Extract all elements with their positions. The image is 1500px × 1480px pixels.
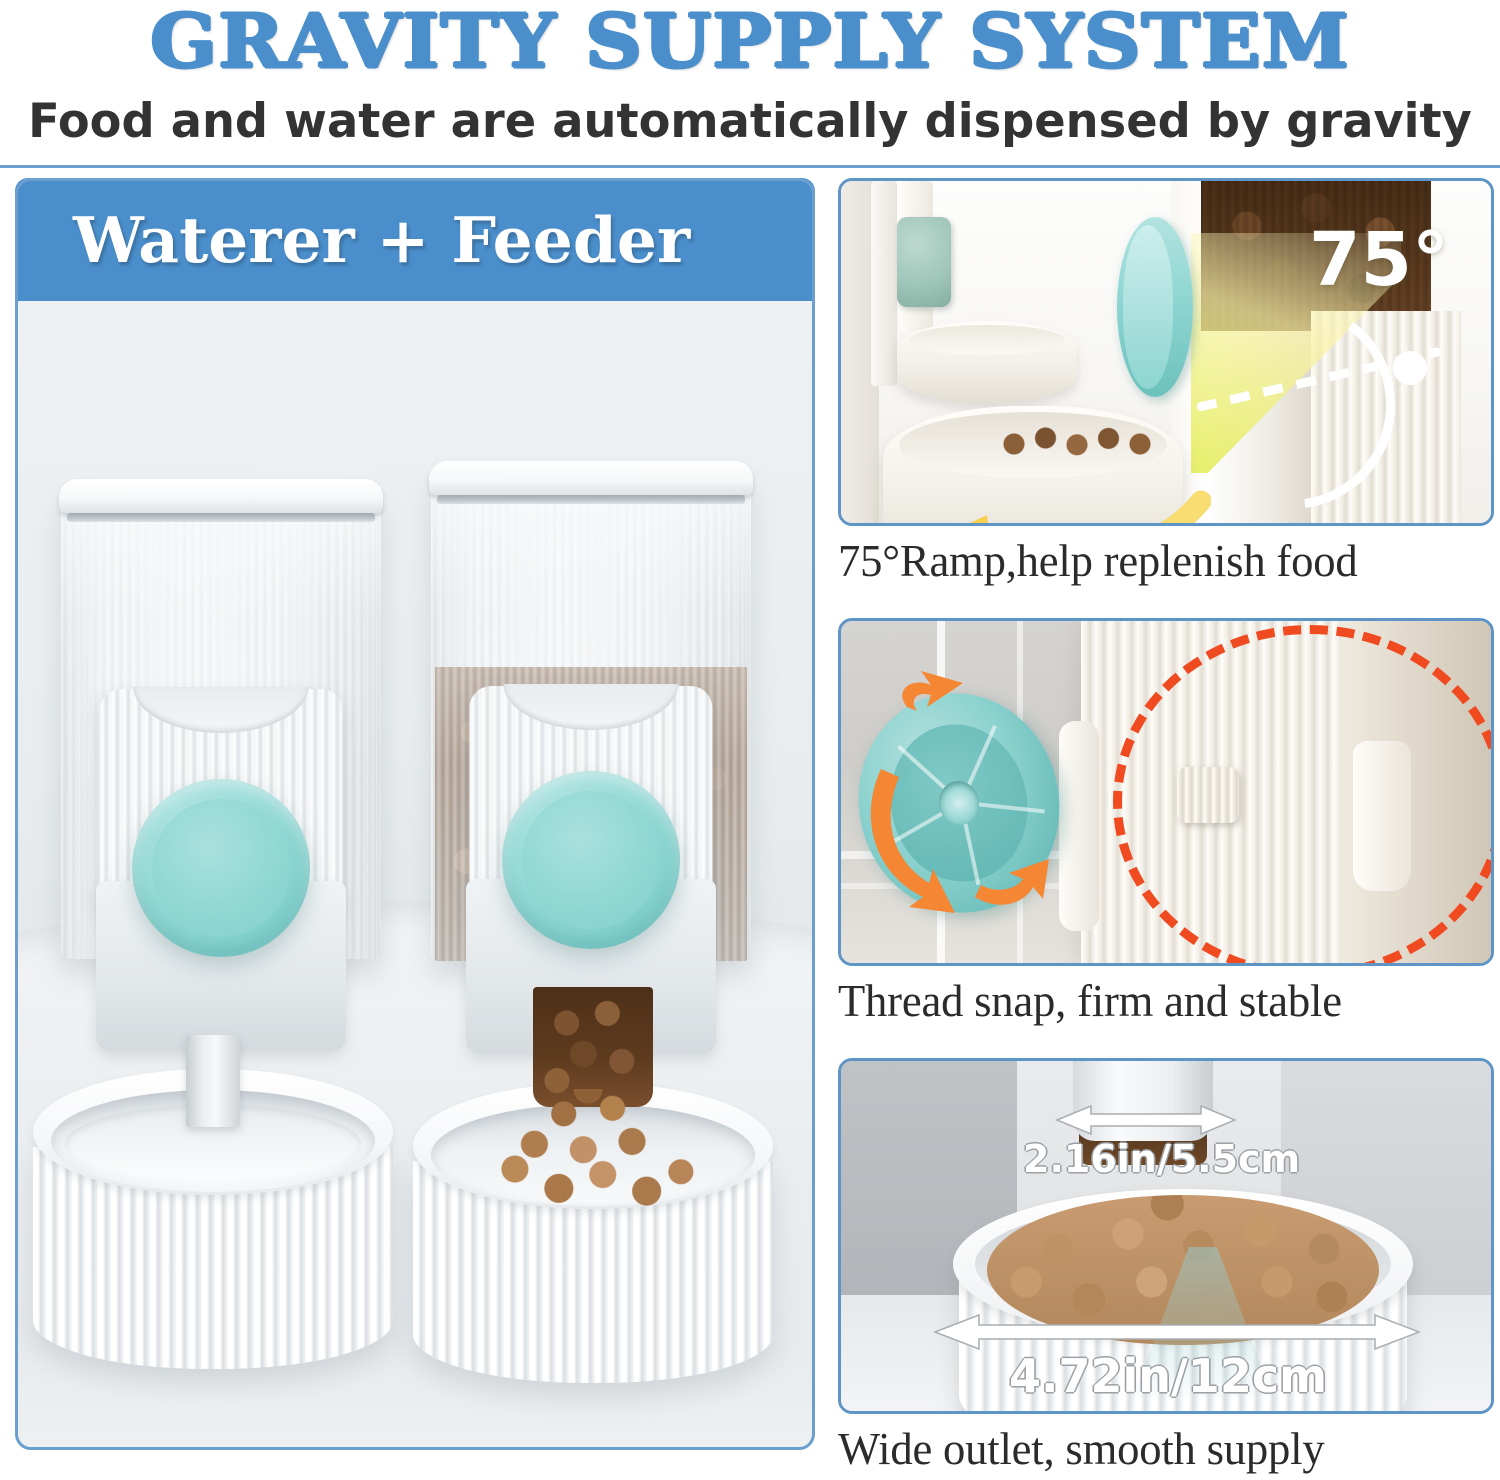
outlet-width-arrow (1051, 1103, 1241, 1137)
feature-column: 75° 75°Ramp,help replenish food (838, 178, 1500, 1458)
feature-thread-caption: Thread snap, firm and stable (838, 970, 1478, 1032)
food-bowl (413, 1083, 773, 1383)
ramp-teal-cap (1117, 217, 1193, 397)
ramp-angle-label: 75° (1309, 223, 1449, 297)
waterer-lid (59, 479, 383, 513)
ramp-angle-dot (1393, 351, 1427, 385)
feeder-unit (431, 471, 751, 961)
page-subtitle: Food and water are automatically dispens… (11, 92, 1489, 152)
ramp-upper-tray (897, 321, 1077, 403)
outlet-diameter-label: 4.72in/12cm (1009, 1349, 1327, 1403)
product-infographic: GRAVITY SUPPLY SYSTEM Food and water are… (0, 0, 1500, 1462)
water-bowl (33, 1069, 393, 1369)
waterer-lid-seam (67, 513, 375, 522)
product-showcase-panel: Waterer + Feeder (15, 178, 815, 1450)
header: GRAVITY SUPPLY SYSTEM Food and water are… (0, 0, 1500, 167)
water-spout (186, 1035, 240, 1127)
ramp-upper-tray-inner (909, 325, 1065, 355)
feature-ramp-caption: 75°Ramp,help replenish food (838, 530, 1478, 592)
outlet-scene: 2.16in/5.5cm 4.72in/12cm (841, 1061, 1491, 1411)
feature-thread: Thread snap, firm and stable (838, 618, 1494, 1038)
feature-outlet-image: 2.16in/5.5cm 4.72in/12cm (838, 1058, 1494, 1414)
waterer-bracket-notch (133, 687, 308, 733)
ramp-bowl-food (993, 420, 1168, 460)
waterer-unit (61, 489, 381, 959)
waterer-cap (132, 779, 310, 957)
header-divider (0, 165, 1500, 168)
thread-rotation-arrows (847, 661, 1087, 931)
product-banner-label: Waterer + Feeder (73, 200, 690, 280)
page-title: GRAVITY SUPPLY SYSTEM (0, 0, 1500, 84)
food-pile (471, 1089, 716, 1227)
thread-highlight-ellipse (1113, 625, 1494, 966)
feature-outlet: 2.16in/5.5cm 4.72in/12cm Wide outlet, sm… (838, 1058, 1494, 1458)
ramp-sage-grip (897, 217, 951, 307)
outlet-diameter-arrow (927, 1311, 1427, 1353)
ramp-scene: 75° (841, 181, 1491, 523)
feeder-lid (429, 461, 753, 495)
feature-ramp-image: 75° (838, 178, 1494, 526)
ramp-bar-a (871, 181, 897, 386)
feature-ramp: 75° 75°Ramp,help replenish food (838, 178, 1494, 598)
product-photo (15, 301, 815, 1447)
feature-thread-image (838, 618, 1494, 966)
feeder-cap (502, 771, 680, 949)
feeder-lid-seam (437, 495, 745, 504)
product-banner: Waterer + Feeder (15, 178, 815, 301)
ramp-flow-arrow (901, 481, 1211, 526)
feeder-bracket-notch (503, 684, 678, 730)
feature-outlet-caption: Wide outlet, smooth supply (838, 1418, 1478, 1480)
thread-scene (841, 621, 1491, 963)
outlet-width-label: 2.16in/5.5cm (1023, 1137, 1300, 1181)
